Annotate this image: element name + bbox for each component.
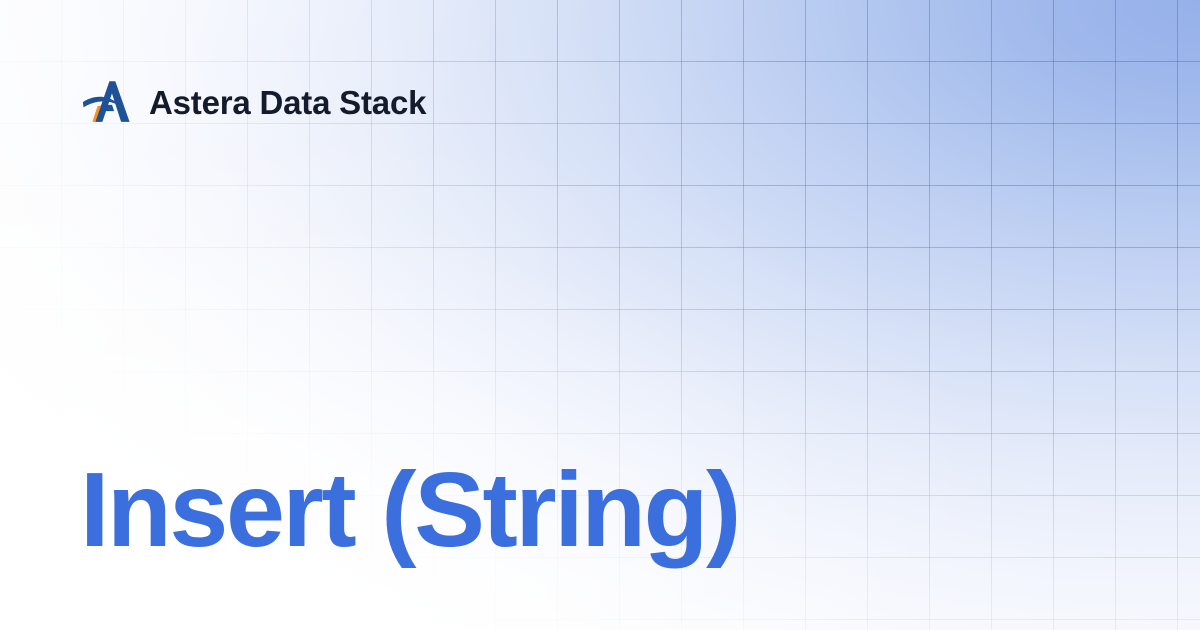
brand-lockup: Astera Data Stack: [82, 80, 426, 124]
brand-name: Astera Data Stack: [149, 86, 426, 119]
og-card: Astera Data Stack Insert (String): [0, 0, 1200, 630]
page-title: Insert (String): [80, 454, 739, 566]
card-content: Astera Data Stack Insert (String): [0, 0, 1200, 630]
astera-a-logo-icon: [82, 80, 132, 124]
